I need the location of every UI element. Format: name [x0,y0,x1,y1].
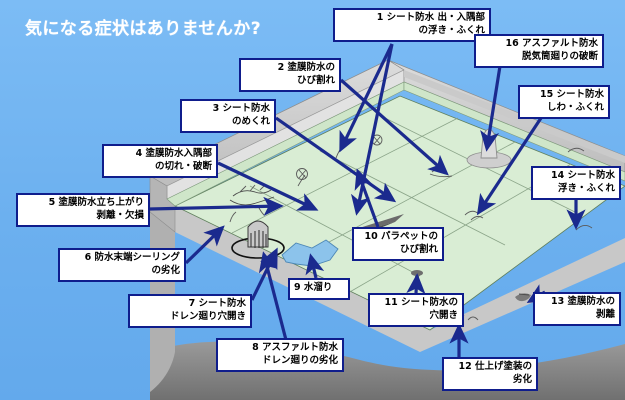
callout-label-1[interactable]: 1 シート防水 出・入隅部の浮き・ふくれ [333,8,491,42]
callout-text-line2: 脱気筒廻りの破断 [480,51,598,64]
callout-label-9[interactable]: 9 水溜り [288,278,350,300]
callout-text-line2: 剥離 [539,309,615,322]
callout-text-line2: の劣化 [64,265,180,278]
callout-text-line2: ひび割れ [358,244,438,257]
callout-label-5[interactable]: 5 塗膜防水立ち上がり剥離・欠損 [16,193,150,227]
illustration-canvas: 気になる症状はありませんか? 1 シート防水 出・入隅部の浮き・ふくれ 2 塗膜… [0,0,625,400]
callout-text-line1: 12 仕上げ塗装の [458,361,532,372]
callout-text-line2: の切れ・破断 [108,161,212,174]
callout-text-line1: 1 シート防水 出・入隅部 [377,12,485,23]
callout-label-16[interactable]: 16 アスファルト防水脱気筒廻りの破断 [474,34,604,68]
callout-text-line2: ドレン廻りの劣化 [222,355,338,368]
callout-label-10[interactable]: 10 パラペットのひび割れ [352,227,444,261]
callout-text-line2: しわ・ふくれ [524,102,604,115]
callout-text-line1: 7 シート防水 [189,298,246,309]
callout-text-line1: 8 アスファルト防水 [252,342,338,353]
callout-text-line1: 14 シート防水 [551,170,615,181]
callout-text-line2: ひび割れ [245,75,335,88]
page-title: 気になる症状はありませんか? [25,14,261,39]
callout-text-line1: 5 塗膜防水立ち上がり [49,197,144,208]
callout-label-7[interactable]: 7 シート防水ドレン廻り穴開き [128,294,252,328]
callout-text-line1: 4 塗膜防水入隅部 [136,148,212,159]
callout-text-line1: 3 シート防水 [213,103,270,114]
callout-text-line2: 浮き・ふくれ [537,183,615,196]
callout-text-line2: 剥離・欠損 [22,210,144,223]
callout-label-6[interactable]: 6 防水末端シーリングの劣化 [58,248,186,282]
callout-label-2[interactable]: 2 塗膜防水のひび割れ [239,58,341,92]
callout-label-15[interactable]: 15 シート防水しわ・ふくれ [518,85,610,119]
callout-label-12[interactable]: 12 仕上げ塗装の劣化 [442,357,538,391]
callout-text-line1: 9 水溜り [294,282,332,293]
callout-text-line1: 16 アスファルト防水 [505,38,598,49]
callout-text-line1: 11 シート防水の [384,297,458,308]
callout-text-line1: 15 シート防水 [540,89,604,100]
callout-text-line1: 6 防水末端シーリング [85,252,180,263]
callout-label-11[interactable]: 11 シート防水の穴開き [368,293,464,327]
callout-text-line2: ドレン廻り穴開き [134,311,246,324]
callout-text-line2: 穴開き [374,310,458,323]
callout-label-3[interactable]: 3 シート防水のめくれ [180,99,276,133]
callout-label-13[interactable]: 13 塗膜防水の剥離 [533,292,621,326]
callout-text-line2: の浮き・ふくれ [339,25,485,38]
callout-text-line1: 10 パラペットの [364,231,438,242]
callout-label-14[interactable]: 14 シート防水浮き・ふくれ [531,166,621,200]
callout-text-line1: 13 塗膜防水の [551,296,615,307]
callout-label-8[interactable]: 8 アスファルト防水ドレン廻りの劣化 [216,338,344,372]
callout-text-line2: のめくれ [186,116,270,129]
callout-label-4[interactable]: 4 塗膜防水入隅部の切れ・破断 [102,144,218,178]
callout-text-line1: 2 塗膜防水の [278,62,335,73]
callout-text-line2: 劣化 [448,374,532,387]
